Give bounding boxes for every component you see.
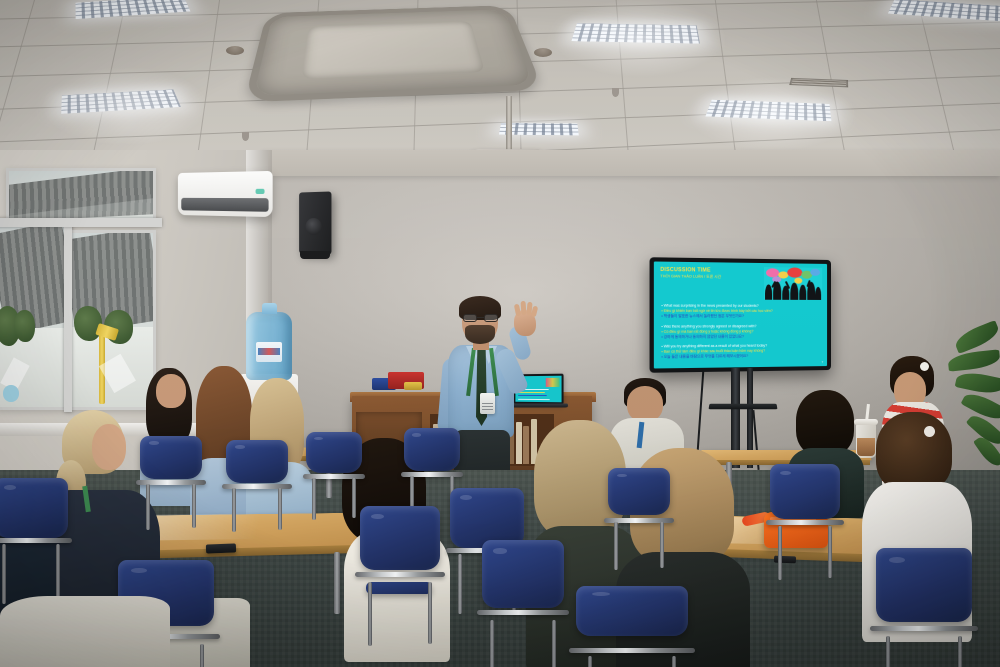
slide-subtitle: THỜI GIAN THẢO LUẬN / 토론 시간 bbox=[660, 274, 761, 279]
bullet-korean: • 학생들이 발표한 뉴스에서 놀라웠던 점은 무엇인가요? bbox=[661, 314, 821, 319]
slide-bullet-list: • What was surprising in the news presen… bbox=[661, 303, 821, 365]
iced-coffee-cup bbox=[856, 424, 876, 458]
chair[interactable] bbox=[770, 464, 840, 552]
speaker-bracket bbox=[300, 251, 330, 259]
water-bottle-label bbox=[256, 342, 282, 362]
window-pane-left bbox=[0, 224, 72, 410]
sprinkler-head-icon bbox=[242, 132, 249, 141]
hair-clip-icon bbox=[920, 362, 929, 371]
window-transom bbox=[6, 168, 156, 224]
tv-display[interactable]: DISCUSSION TIME THỜI GIAN THẢO LUẬN / 토론… bbox=[650, 257, 831, 373]
glasses-icon bbox=[463, 314, 498, 322]
speech-bubbles-crowd-icon bbox=[764, 267, 822, 300]
chair[interactable] bbox=[576, 586, 688, 667]
slide-bullet-group: • Will you try anything different as a r… bbox=[661, 343, 821, 360]
coffee-cup-lid bbox=[854, 419, 878, 425]
ac-status-led bbox=[256, 189, 265, 194]
water-bottle bbox=[246, 312, 292, 380]
slide-bullet-group: • Was there anything you strongly agreed… bbox=[661, 324, 821, 340]
bullet-korean: • 강하게 동의하거나 동의하지 않았던 내용이 있었나요? bbox=[661, 334, 821, 340]
presenter-right-hand bbox=[514, 310, 536, 336]
chair[interactable] bbox=[140, 436, 202, 506]
slide-screen: DISCUSSION TIME THỜI GIAN THẢO LUẬN / 토론… bbox=[654, 261, 827, 368]
bullet-korean: • 오늘 들은 내용을 바탕으로 무엇을 다르게 해보시겠어요? bbox=[661, 353, 821, 360]
presenter-beard bbox=[465, 325, 495, 344]
ceiling-soffit bbox=[262, 150, 1000, 176]
chair[interactable] bbox=[608, 468, 670, 544]
smartphone[interactable] bbox=[206, 543, 236, 553]
slide-heading-block: DISCUSSION TIME THỜI GIAN THẢO LUẬN / 토론… bbox=[660, 268, 761, 280]
smoke-detector-icon bbox=[226, 46, 244, 55]
tv-stand-shelf bbox=[709, 404, 778, 410]
smoke-detector-icon bbox=[534, 48, 552, 57]
slide-page-number: 7 bbox=[821, 360, 823, 364]
chair[interactable] bbox=[0, 478, 68, 574]
chair[interactable] bbox=[360, 506, 440, 610]
window-pane-right bbox=[68, 230, 156, 410]
sprinkler-head-icon bbox=[612, 88, 619, 97]
window-head-rail bbox=[0, 218, 162, 227]
wall-split-ac bbox=[178, 171, 273, 217]
presenter-id-badge bbox=[480, 393, 495, 414]
chair[interactable] bbox=[306, 432, 362, 498]
chair[interactable] bbox=[876, 548, 972, 667]
coffee-liquid bbox=[857, 438, 875, 456]
classroom-scene: DISCUSSION TIME THỜI GIAN THẢO LUẬN / 토론… bbox=[0, 0, 1000, 667]
slide-bullet-group: • What was surprising in the news presen… bbox=[661, 303, 821, 319]
ceiling-light-panel bbox=[571, 23, 700, 43]
presenter-tie bbox=[476, 350, 487, 426]
chair[interactable] bbox=[226, 440, 288, 510]
chair[interactable] bbox=[482, 540, 564, 650]
storage-box-yellow bbox=[404, 382, 422, 390]
projector-mount-pole bbox=[506, 96, 512, 152]
window-mullion bbox=[64, 224, 72, 412]
ceiling-ac-cassette bbox=[244, 5, 543, 102]
wall-pa-speaker bbox=[299, 191, 331, 254]
